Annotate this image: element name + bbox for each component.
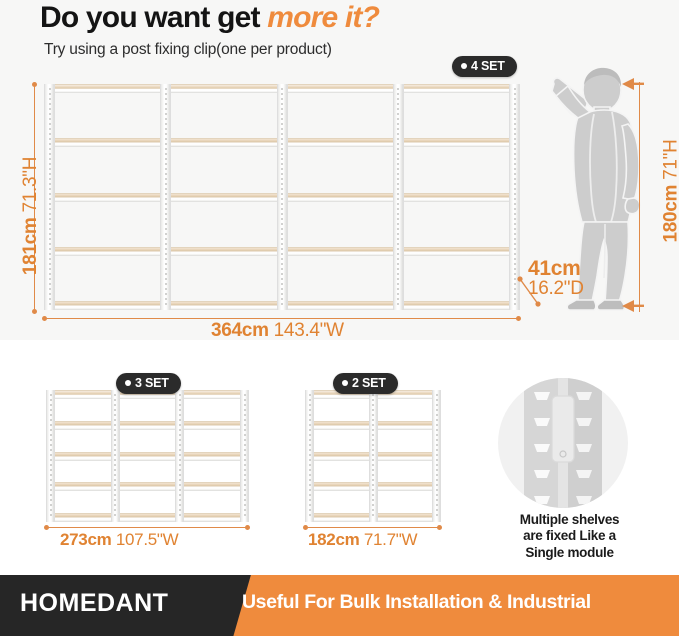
headline-accent: more it? [267, 1, 379, 34]
height-dim-dot-bottom [32, 309, 37, 314]
shelf-opening [378, 491, 433, 513]
width-label-3-set: 273cm 107.5"W [60, 530, 178, 550]
shelf-board [184, 513, 240, 522]
shelf-post [369, 390, 378, 522]
bullet-dot-icon [125, 380, 131, 386]
badge-4-set: 4 SET [452, 56, 517, 77]
person-height-label: 180cm 71"H [661, 139, 679, 242]
shelf-board [404, 301, 509, 310]
shelf-opening [184, 461, 240, 483]
shelf-board [314, 421, 369, 430]
shelf-board [55, 390, 111, 399]
shelf-opening [404, 93, 509, 138]
shelf-opening [314, 461, 369, 483]
shelf-board [120, 421, 176, 430]
shelf-board [171, 138, 276, 147]
shelf-opening [184, 430, 240, 452]
detail-caption-line-2: are fixed Like a [462, 528, 677, 544]
bullet-dot-icon [461, 63, 467, 69]
shelf-bay [171, 84, 276, 310]
shelf-opening [55, 93, 160, 138]
detail-caption-line-1: Multiple shelves [462, 512, 677, 528]
shelf-post [240, 390, 249, 522]
shelf-board [378, 513, 433, 522]
person-height-dimension-line [639, 82, 640, 312]
shelf-opening [120, 491, 176, 513]
shelf-board [55, 138, 160, 147]
top-section: Do you want get more it? Try using a pos… [0, 0, 679, 340]
shelf-board [288, 193, 393, 202]
height-label: 181cm 71.3"H [20, 157, 42, 275]
width-label: 364cm 143.4"W [211, 320, 344, 342]
shelf-board [378, 421, 433, 430]
product-infographic: Do you want get more it? Try using a pos… [0, 0, 679, 636]
width-label-2-set-inch: 71.7"W [364, 530, 417, 549]
shelf-board [288, 247, 393, 256]
shelf-board [378, 452, 433, 461]
shelf-board [314, 452, 369, 461]
shelf-board [55, 452, 111, 461]
shelf-bay [55, 390, 111, 522]
person-height-label-inch: 71"H [661, 139, 679, 179]
width-label-2-set-cm: 182cm [308, 530, 359, 549]
brand-logo: HOMEDANT [20, 589, 168, 618]
shelf-opening [120, 430, 176, 452]
shelf-board [288, 301, 393, 310]
post-clip-illustration [498, 378, 628, 508]
shelf-board [404, 193, 509, 202]
height-label-inch: 71.3"H [20, 157, 41, 213]
page-title: Do you want get more it? [40, 2, 379, 34]
badge-2-set-label: 2 SET [352, 376, 386, 390]
width-dim-dot-right [516, 316, 521, 321]
shelf-opening [378, 461, 433, 483]
person-height-arrow-top [622, 78, 644, 90]
width-label-3-set-cm: 273cm [60, 530, 111, 549]
shelf-opening [120, 399, 176, 421]
height-label-cm: 181cm [20, 217, 41, 275]
shelf-board [55, 84, 160, 93]
detail-zoom-circle [498, 378, 628, 508]
badge-3-set-label: 3 SET [135, 376, 169, 390]
shelf-bay [184, 390, 240, 522]
brand-bar: HOMEDANT Useful For Bulk Installation & … [0, 575, 679, 636]
shelf-opening [288, 147, 393, 192]
shelf-opening [120, 461, 176, 483]
shelf-board [55, 301, 160, 310]
shelf-opening [184, 491, 240, 513]
shelf-opening [171, 93, 276, 138]
shelf-bay [120, 390, 176, 522]
brand-tagline: Useful For Bulk Installation & Industria… [242, 591, 591, 614]
shelf-board [288, 138, 393, 147]
shelf-board [171, 193, 276, 202]
shelf-board [120, 513, 176, 522]
shelf-post [277, 84, 288, 310]
shelf-opening [378, 430, 433, 452]
shelf-bay [314, 390, 369, 522]
shelf-opening [288, 93, 393, 138]
shelf-post [393, 84, 404, 310]
shelf-post [175, 390, 184, 522]
shelf-opening [314, 430, 369, 452]
width-label-inch: 143.4"W [274, 320, 344, 341]
shelf-board [404, 247, 509, 256]
shelf-post [44, 84, 55, 310]
shelf-opening [288, 202, 393, 247]
shelf-unit-3-set [46, 390, 249, 522]
shelf-opening [171, 147, 276, 192]
shelf-bay [378, 390, 433, 522]
shelf-opening [171, 202, 276, 247]
shelf-opening [55, 147, 160, 192]
badge-2-set: 2 SET [333, 373, 398, 394]
shelf-opening [288, 256, 393, 301]
detail-panel [498, 378, 642, 508]
shelf-opening [55, 491, 111, 513]
shelf-board [288, 84, 393, 93]
person-height-arrow-bottom [622, 300, 644, 312]
shelf-post [111, 390, 120, 522]
badge-3-set: 3 SET [116, 373, 181, 394]
shelf-post [46, 390, 55, 522]
shelf-board [55, 193, 160, 202]
shelf-board [184, 421, 240, 430]
shelf-opening [404, 256, 509, 301]
width-dim-dot-right-3-set [245, 525, 250, 530]
detail-caption: Multiple shelves are fixed Like a Single… [462, 512, 677, 561]
shelf-opening [55, 461, 111, 483]
shelf-board [314, 482, 369, 491]
bullet-dot-icon [342, 380, 348, 386]
shelf-post [305, 390, 314, 522]
width-dim-dot-left [42, 316, 47, 321]
shelf-board [55, 513, 111, 522]
shelf-opening [55, 202, 160, 247]
shelf-board [404, 138, 509, 147]
shelf-opening [314, 491, 369, 513]
shelf-bay [55, 84, 160, 310]
depth-dimension-line [516, 276, 546, 310]
shelf-unit-2-set [305, 390, 441, 522]
shelf-board [184, 482, 240, 491]
detail-caption-line-3: Single module [462, 545, 677, 561]
shelf-opening [404, 202, 509, 247]
shelf-board [120, 452, 176, 461]
shelf-board [55, 482, 111, 491]
height-dim-dot-top [32, 82, 37, 87]
shelf-board [55, 421, 111, 430]
shelf-board [184, 452, 240, 461]
width-label-3-set-inch: 107.5"W [116, 530, 179, 549]
shelf-board [314, 513, 369, 522]
shelf-bay [404, 84, 509, 310]
shelf-opening [404, 147, 509, 192]
shelf-opening [55, 399, 111, 421]
shelf-board [404, 84, 509, 93]
shelf-board [171, 84, 276, 93]
headline-main: Do you want get [40, 1, 267, 34]
shelf-opening [314, 399, 369, 421]
shelf-board [120, 482, 176, 491]
shelf-opening [184, 399, 240, 421]
shelf-opening [378, 399, 433, 421]
width-dimension-line-2-set [305, 527, 441, 528]
shelf-unit-4-set [44, 84, 520, 310]
person-height-label-cm: 180cm [661, 185, 679, 243]
subtitle: Try using a post fixing clip(one per pro… [44, 41, 332, 59]
shelf-board [378, 482, 433, 491]
shelf-board [171, 301, 276, 310]
width-label-cm: 364cm [211, 320, 269, 341]
shelf-board [55, 247, 160, 256]
width-dim-dot-left-3-set [44, 525, 49, 530]
shelf-board [184, 390, 240, 399]
shelf-board [171, 247, 276, 256]
width-label-2-set: 182cm 71.7"W [308, 530, 417, 550]
shelf-post [432, 390, 441, 522]
badge-4-set-label: 4 SET [471, 59, 505, 73]
shelf-opening [171, 256, 276, 301]
shelf-opening [55, 256, 160, 301]
width-dim-dot-right-2-set [437, 525, 442, 530]
shelf-post [160, 84, 171, 310]
shelf-bay [288, 84, 393, 310]
shelf-opening [55, 430, 111, 452]
width-dimension-line-3-set [46, 527, 249, 528]
